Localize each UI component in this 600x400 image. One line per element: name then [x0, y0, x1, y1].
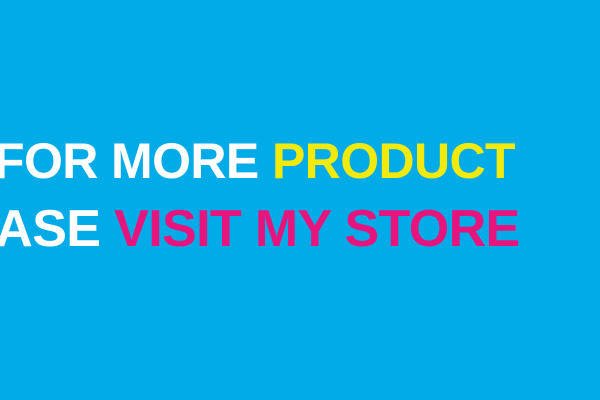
headline-line-1: FOR MORE PRODUCT — [0, 136, 515, 186]
promo-banner: FOR MORE PRODUCT PLEASE VISIT MY STORE — [0, 0, 600, 400]
headline-line1-space — [259, 133, 272, 189]
headline-line1-white-text: FOR MORE — [0, 133, 259, 189]
headline-line2-space — [100, 200, 114, 258]
headline-line1-accent-text: PRODUCT — [272, 133, 515, 189]
headline-line2-white-text: PLEASE — [0, 200, 100, 258]
headline-line-2: PLEASE VISIT MY STORE — [0, 203, 520, 255]
headline-block: FOR MORE PRODUCT PLEASE VISIT MY STORE — [0, 0, 600, 400]
headline-line2-accent-text: VISIT MY STORE — [114, 200, 519, 258]
